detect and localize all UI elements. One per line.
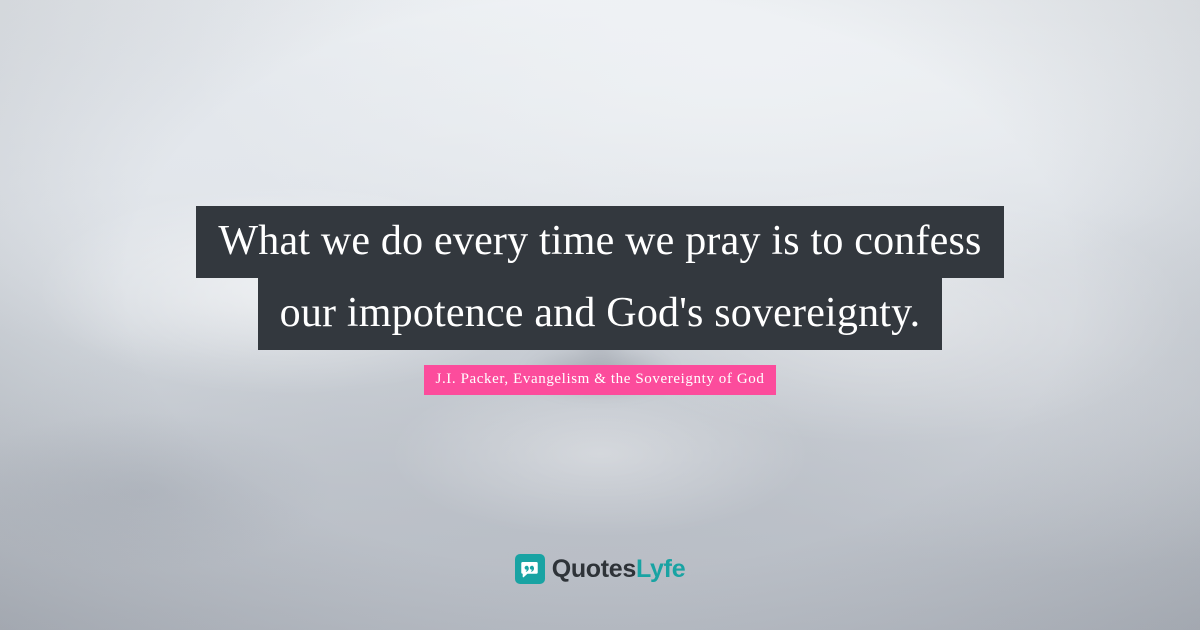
quote-image-canvas: What we do every time we pray is to conf… — [0, 0, 1200, 630]
brand-logo: QuotesLyfe — [0, 554, 1200, 584]
quote-line-1: What we do every time we pray is to conf… — [196, 206, 1003, 278]
brand-name-part1: Quotes — [552, 555, 636, 583]
attribution-row: J.I. Packer, Evangelism & the Sovereignt… — [0, 365, 1200, 395]
brand-name: QuotesLyfe — [552, 557, 686, 582]
brand-name-part2: Lyfe — [636, 555, 685, 583]
quote-attribution: J.I. Packer, Evangelism & the Sovereignt… — [424, 365, 777, 395]
quote-bubble-icon — [515, 554, 545, 584]
quote-line-2: our impotence and God's sovereignty. — [258, 278, 943, 350]
quote-text-block: What we do every time we pray is to conf… — [0, 206, 1200, 350]
